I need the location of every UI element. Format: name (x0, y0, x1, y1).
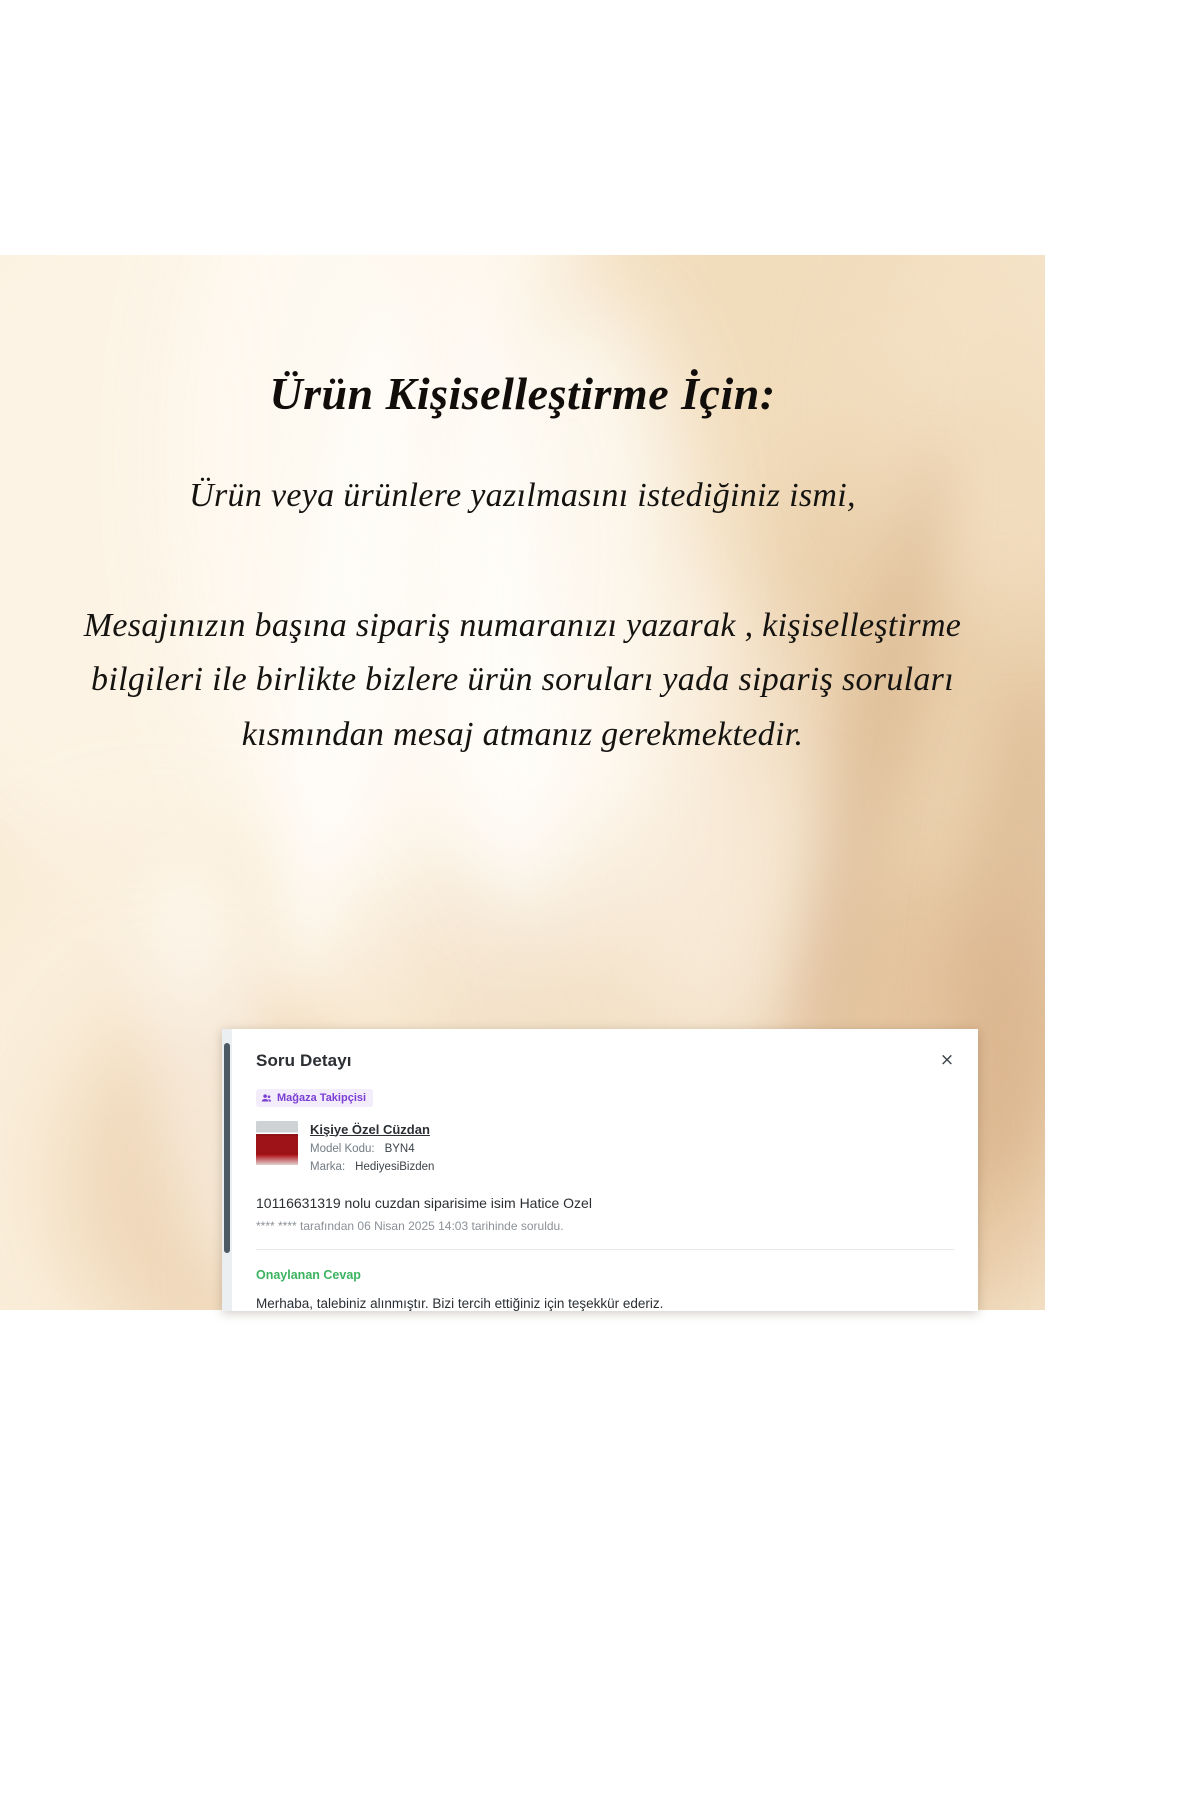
product-summary[interactable]: Kişiye Özel Cüzdan Model Kodu: BYN4 Mark… (256, 1121, 954, 1173)
promo-subline: Ürün veya ürünlere yazılmasını istediğin… (0, 477, 1045, 515)
product-field-value: HediyesiBizden (355, 1161, 434, 1173)
status-badge-label: Mağaza Takipçisi (277, 1092, 366, 1104)
question-section: 10116631319 nolu cuzdan siparisime isim … (256, 1195, 954, 1233)
dialog-title: Soru Detayı (256, 1029, 954, 1071)
product-field-row: Model Kodu: BYN4 (310, 1143, 434, 1155)
followers-icon (261, 1093, 272, 1104)
page-canvas: Ürün Kişiselleştirme İçin: Ürün veya ürü… (0, 0, 1200, 1800)
promo-paragraph: Mesajınızın başına sipariş numaranızı ya… (0, 599, 1045, 762)
product-name-link[interactable]: Kişiye Özel Cüzdan (310, 1122, 434, 1137)
promo-text-block: Ürün Kişiselleştirme İçin: Ürün veya ürü… (0, 255, 1045, 762)
dialog-scrollbar-thumb[interactable] (224, 1043, 230, 1253)
wallet-thumbnail-icon (256, 1121, 298, 1165)
status-badge: Mağaza Takipçisi (256, 1089, 373, 1107)
answer-status-label: Onaylanan Cevap (256, 1268, 954, 1282)
product-field-value: BYN4 (385, 1143, 415, 1155)
product-field-label: Marka: (310, 1161, 345, 1173)
question-text: 10116631319 nolu cuzdan siparisime isim … (256, 1195, 954, 1211)
section-divider (256, 1249, 954, 1250)
page-title: Ürün Kişiselleştirme İçin: (0, 255, 1045, 420)
close-icon[interactable]: × (938, 1051, 956, 1069)
question-meta: **** **** tarafından 06 Nisan 2025 14:03… (256, 1219, 954, 1233)
product-field-row: Marka: HediyesiBizden (310, 1161, 434, 1173)
dialog-scrollbar[interactable] (222, 1029, 232, 1311)
product-field-label: Model Kodu: (310, 1143, 375, 1155)
question-detail-dialog: Soru Detayı × Mağaza Takipçisi Kişiye Öz… (222, 1029, 978, 1311)
answer-section: Onaylanan Cevap Merhaba, talebiniz alınm… (256, 1268, 954, 1311)
dialog-body: Soru Detayı × Mağaza Takipçisi Kişiye Öz… (232, 1029, 978, 1311)
answer-text: Merhaba, talebiniz alınmıştır. Bizi terc… (256, 1296, 954, 1311)
product-meta: Kişiye Özel Cüzdan Model Kodu: BYN4 Mark… (310, 1121, 434, 1173)
